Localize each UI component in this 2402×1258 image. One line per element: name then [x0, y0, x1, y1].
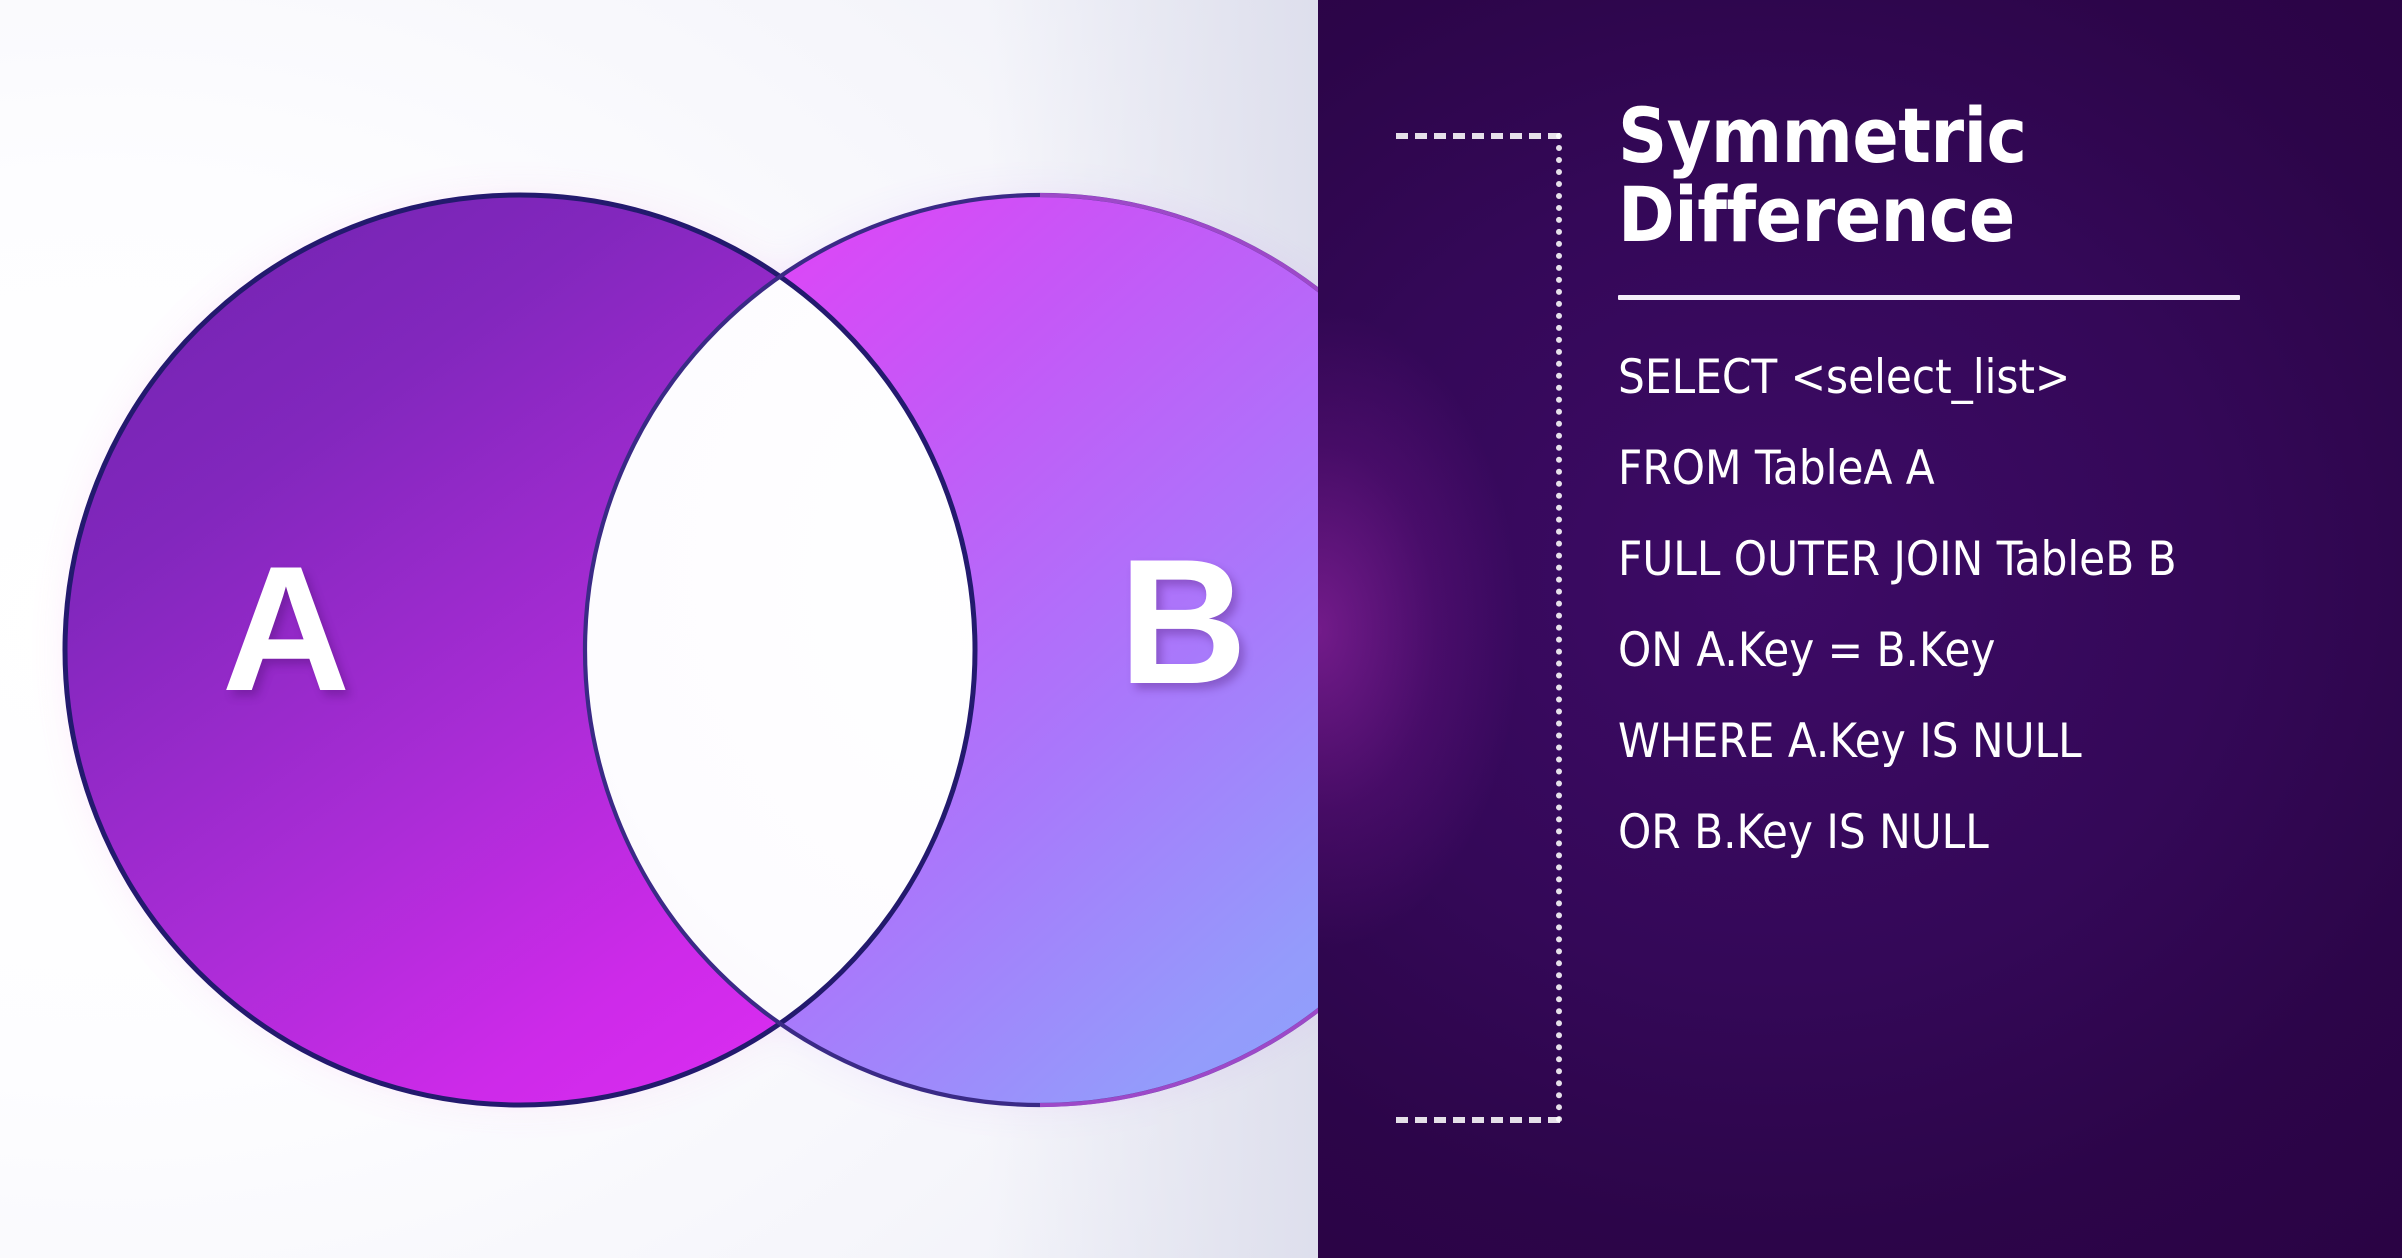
panel-edge-glow: [1318, 220, 1578, 1040]
sql-line: ON A.Key = B.Key: [1618, 627, 2358, 674]
sql-line: WHERE A.Key IS NULL: [1618, 718, 2358, 765]
venn-label-b: B: [1093, 533, 1273, 711]
bracket-vertical-dash: [1556, 133, 1562, 1123]
sql-line: FROM TableA A: [1618, 445, 2358, 492]
sql-code-block: SELECT <select_list> FROM TableA A FULL …: [1618, 354, 2358, 856]
venn-sql-infographic: A B Symmetric Difference SELECT <select_…: [0, 0, 2402, 1258]
sql-line: SELECT <select_list>: [1618, 354, 2358, 401]
dotted-bracket-icon: [1390, 133, 1562, 1123]
sql-line: FULL OUTER JOIN TableB B: [1618, 536, 2358, 583]
page-title: Symmetric Difference: [1618, 96, 2358, 254]
venn-diagram-panel: A B: [0, 0, 1318, 1258]
title-divider: [1618, 295, 2240, 300]
panel-content: Symmetric Difference SELECT <select_list…: [1618, 96, 2358, 856]
bracket-bottom-dash: [1396, 1117, 1560, 1123]
venn-label-a: A: [196, 540, 376, 718]
sql-text-panel: Symmetric Difference SELECT <select_list…: [1318, 0, 2402, 1258]
sql-line: OR B.Key IS NULL: [1618, 809, 2358, 856]
bracket-top-dash: [1396, 133, 1560, 139]
